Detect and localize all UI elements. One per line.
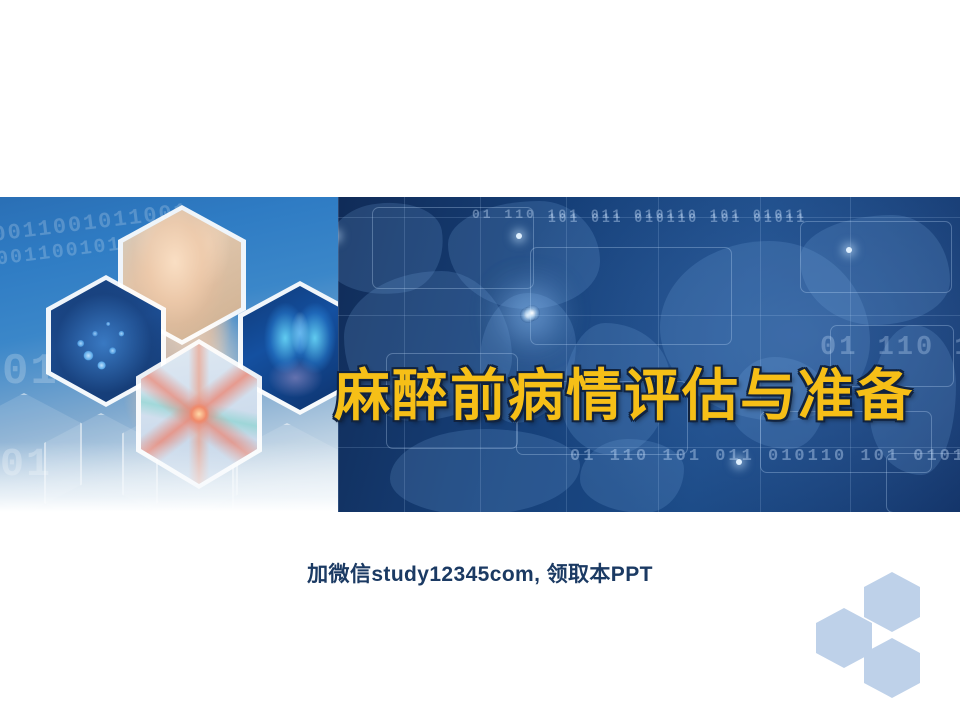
- decor-hexagon: [816, 608, 872, 668]
- hexagon-decoration: [816, 568, 946, 708]
- medical-collage-image: 0011001011001 001100101 01 01: [0, 197, 338, 512]
- bottom-fade: [0, 442, 338, 512]
- decor-hexagon: [864, 638, 920, 698]
- binary-text: 01 110 101 01: [820, 333, 960, 363]
- decor-hexagon: [864, 572, 920, 632]
- glow-dot: [516, 233, 522, 239]
- lens-flare: [524, 305, 540, 321]
- world-map-tech-background: 01 110 101 011 010110 101 01011 101 011 …: [330, 197, 960, 512]
- binary-text: 01 110 101 011 010110 101 01011: [570, 447, 960, 466]
- grid-line-vertical: [338, 197, 339, 512]
- grid-line-vertical: [566, 197, 567, 512]
- tech-rectangle: [530, 247, 732, 345]
- glow-dot: [846, 247, 852, 253]
- tech-rectangle: [800, 221, 952, 293]
- page-title: 麻醉前病情评估与准备: [334, 364, 944, 428]
- title-banner: 01 110 101 011 010110 101 01011 101 011 …: [0, 197, 960, 512]
- binary-text: 101 011 010110 101 01011: [548, 211, 807, 226]
